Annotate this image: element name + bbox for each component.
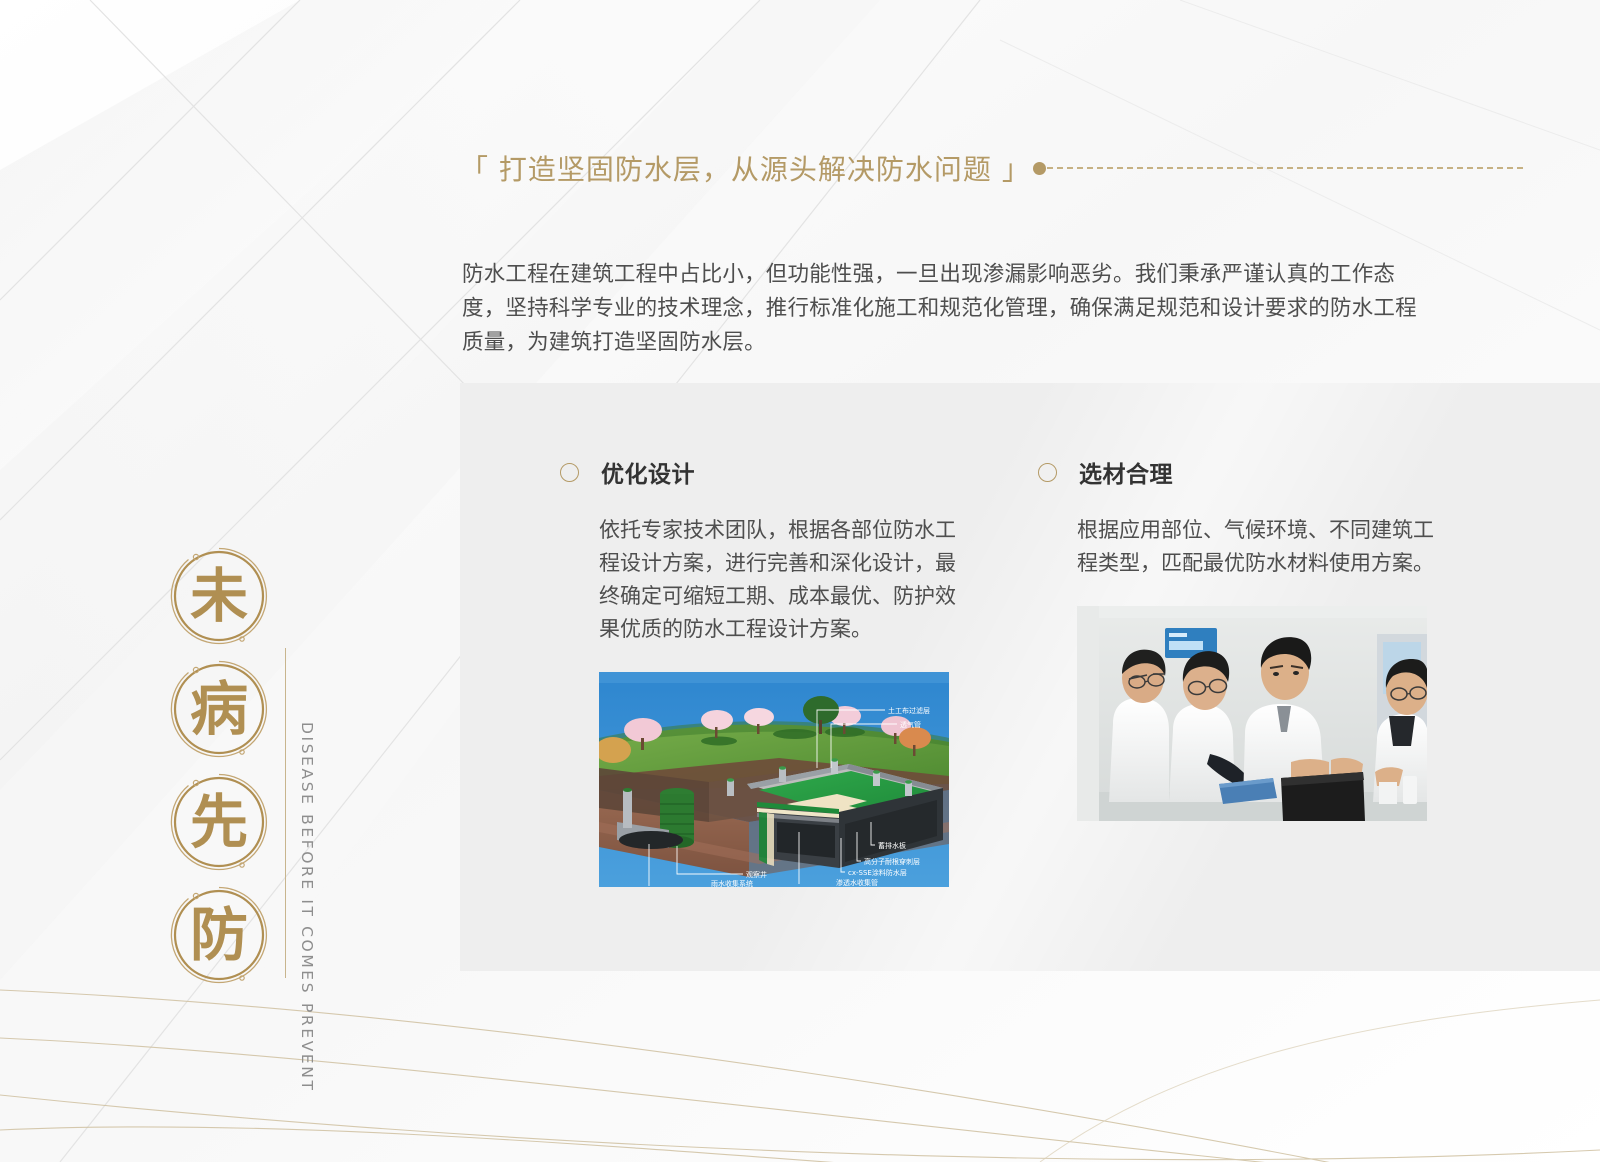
feature-column-optimized-design: 优化设计 依托专家技术团队，根据各部位防水工程设计方案，进行完善和深化设计，最终… [560,455,960,887]
features-panel: 优化设计 依托专家技术团队，根据各部位防水工程设计方案，进行完善和深化设计，最终… [460,383,1600,971]
feature-heading: 选材合理 [1038,455,1438,489]
lab-team-photo-thumbnail[interactable] [1077,606,1427,821]
waterproofing-diagram-thumbnail[interactable]: 土工布过滤层 透气管 蓄排水板 高分子耐根穿刺层 cx-SSE涂料防水层 渗透水… [599,672,949,887]
lab-team-photo [1077,606,1427,821]
brand-emblem: 未 病 先 防 [163,540,275,992]
diagram-label: 土工布过滤层 [888,706,930,715]
feature-title: 优化设计 [601,455,695,489]
waterproofing-diagram-illustration: 土工布过滤层 透气管 蓄排水板 高分子耐根穿刺层 cx-SSE涂料防水层 渗透水… [599,672,949,887]
emblem-char: 病 [163,653,275,765]
emblem-badge: 防 [163,879,275,991]
feature-body: 根据应用部位、气候环境、不同建筑工程类型，匹配最优防水材料使用方案。 [1077,514,1437,580]
gold-dot-icon [1033,162,1046,175]
diagram-label: 观察井 [746,870,767,879]
circle-outline-icon [1038,463,1057,482]
feature-body: 依托专家技术团队，根据各部位防水工程设计方案，进行完善和深化设计，最终确定可缩短… [599,514,959,646]
dashed-rule-icon [1047,167,1523,169]
emblem-divider [285,648,286,978]
intro-paragraph: 防水工程在建筑工程中占比小，但功能性强，一旦出现渗漏影响恶劣。我们秉承严谨认真的… [462,258,1437,360]
feature-title: 选材合理 [1079,455,1173,489]
emblem-badge: 病 [163,653,275,765]
feature-columns: 优化设计 依托专家技术团队，根据各部位防水工程设计方案，进行完善和深化设计，最终… [560,455,1438,887]
headline-text: 「 打造坚固防水层，从源头解决防水问题 」 [460,148,1031,188]
diagram-label: 蓄排水板 [878,841,906,850]
diagram-label: 透气管 [900,720,921,729]
circle-outline-icon [560,463,579,482]
section-headline: 「 打造坚固防水层，从源头解决防水问题 」 [460,148,1523,188]
emblem-tagline-line2: PREVENT [298,1003,316,1093]
feature-heading: 优化设计 [560,455,960,489]
emblem-badge: 未 [163,540,275,652]
emblem-tagline: DISEASE BEFORE IT COMES PREVENT [296,722,318,1092]
diagram-label: 渗透水收集管 [836,878,878,887]
diagram-label: 雨水收集系统 [711,879,753,887]
emblem-char: 防 [163,879,275,991]
emblem-badge: 先 [163,766,275,878]
emblem-tagline-line1: DISEASE BEFORE IT COMES [298,722,316,995]
emblem-char: 未 [163,540,275,652]
emblem-char: 先 [163,766,275,878]
diagram-label: cx-SSE涂料防水层 [848,868,907,877]
feature-column-material-selection: 选材合理 根据应用部位、气候环境、不同建筑工程类型，匹配最优防水材料使用方案。 [1038,455,1438,887]
diagram-label: 高分子耐根穿刺层 [864,857,920,866]
